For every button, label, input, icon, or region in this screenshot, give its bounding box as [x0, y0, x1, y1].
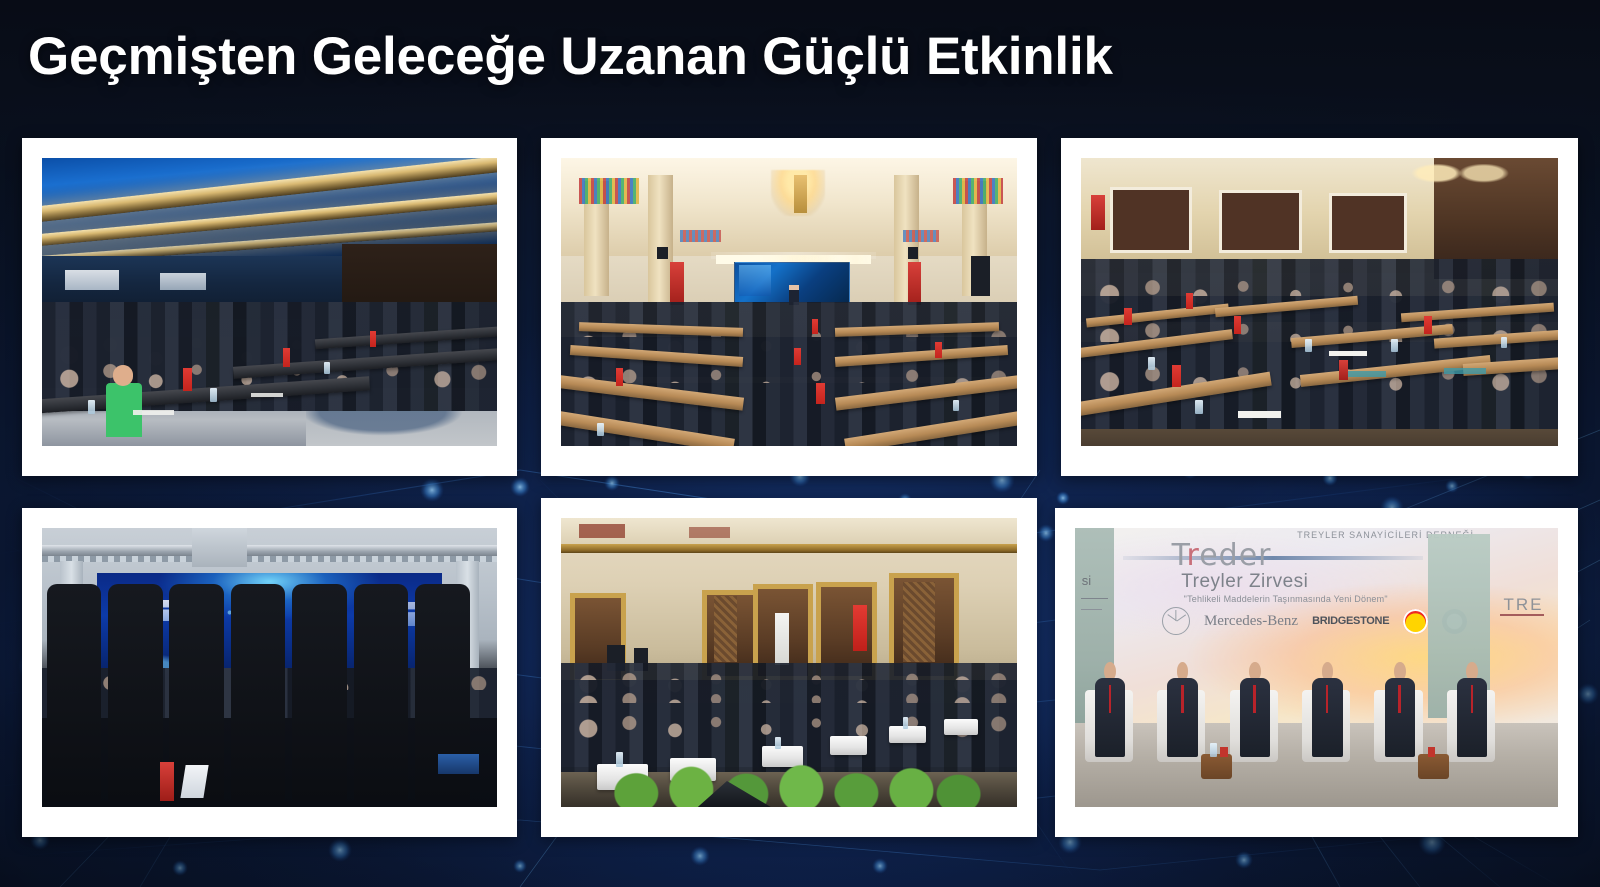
- photo-frame-6[interactable]: si TREYLER SANAYİCİLERİ DERNEĞİ Treder T…: [1055, 508, 1578, 837]
- photo-gallery: si TREYLER SANAYİCİLERİ DERNEĞİ Treder T…: [0, 0, 1600, 887]
- photo-6-side-label: TRE: [1504, 595, 1544, 615]
- slide-canvas: Geçmişten Geleceğe Uzanan Güçlü Etkinlik: [0, 0, 1600, 887]
- photo-6-side-text: si: [1082, 573, 1091, 588]
- mercedes-benz-label: Mercedes-Benz: [1204, 613, 1298, 630]
- photo-frame-2[interactable]: [541, 138, 1037, 476]
- photo-5: [561, 518, 1017, 807]
- mercedes-benz-star-icon: [1162, 607, 1190, 635]
- photo-frame-4[interactable]: [22, 508, 517, 837]
- photo-6: si TREYLER SANAYİCİLERİ DERNEĞİ Treder T…: [1075, 528, 1558, 807]
- photo-2: [561, 158, 1017, 446]
- photo-6-event-text: Treyler Zirvesi: [1181, 571, 1308, 593]
- shell-logo-icon: [1403, 609, 1428, 634]
- photo-6-tagline-text: "Tehlikeli Maddelerin Taşınmasında Yeni …: [1184, 594, 1388, 604]
- photo-4: [42, 528, 497, 807]
- photo-1: [42, 158, 497, 446]
- photo-frame-1[interactable]: [22, 138, 517, 476]
- photo-6-sponsor-logos: Mercedes-Benz BRIDGESTONE: [1162, 609, 1461, 634]
- photo-frame-3[interactable]: [1061, 138, 1578, 476]
- bridgestone-label: BRIDGESTONE: [1312, 615, 1389, 627]
- photo-3: [1081, 158, 1558, 446]
- photo-6-brand-text: Treder: [1172, 538, 1272, 573]
- photo-frame-5[interactable]: [541, 498, 1037, 837]
